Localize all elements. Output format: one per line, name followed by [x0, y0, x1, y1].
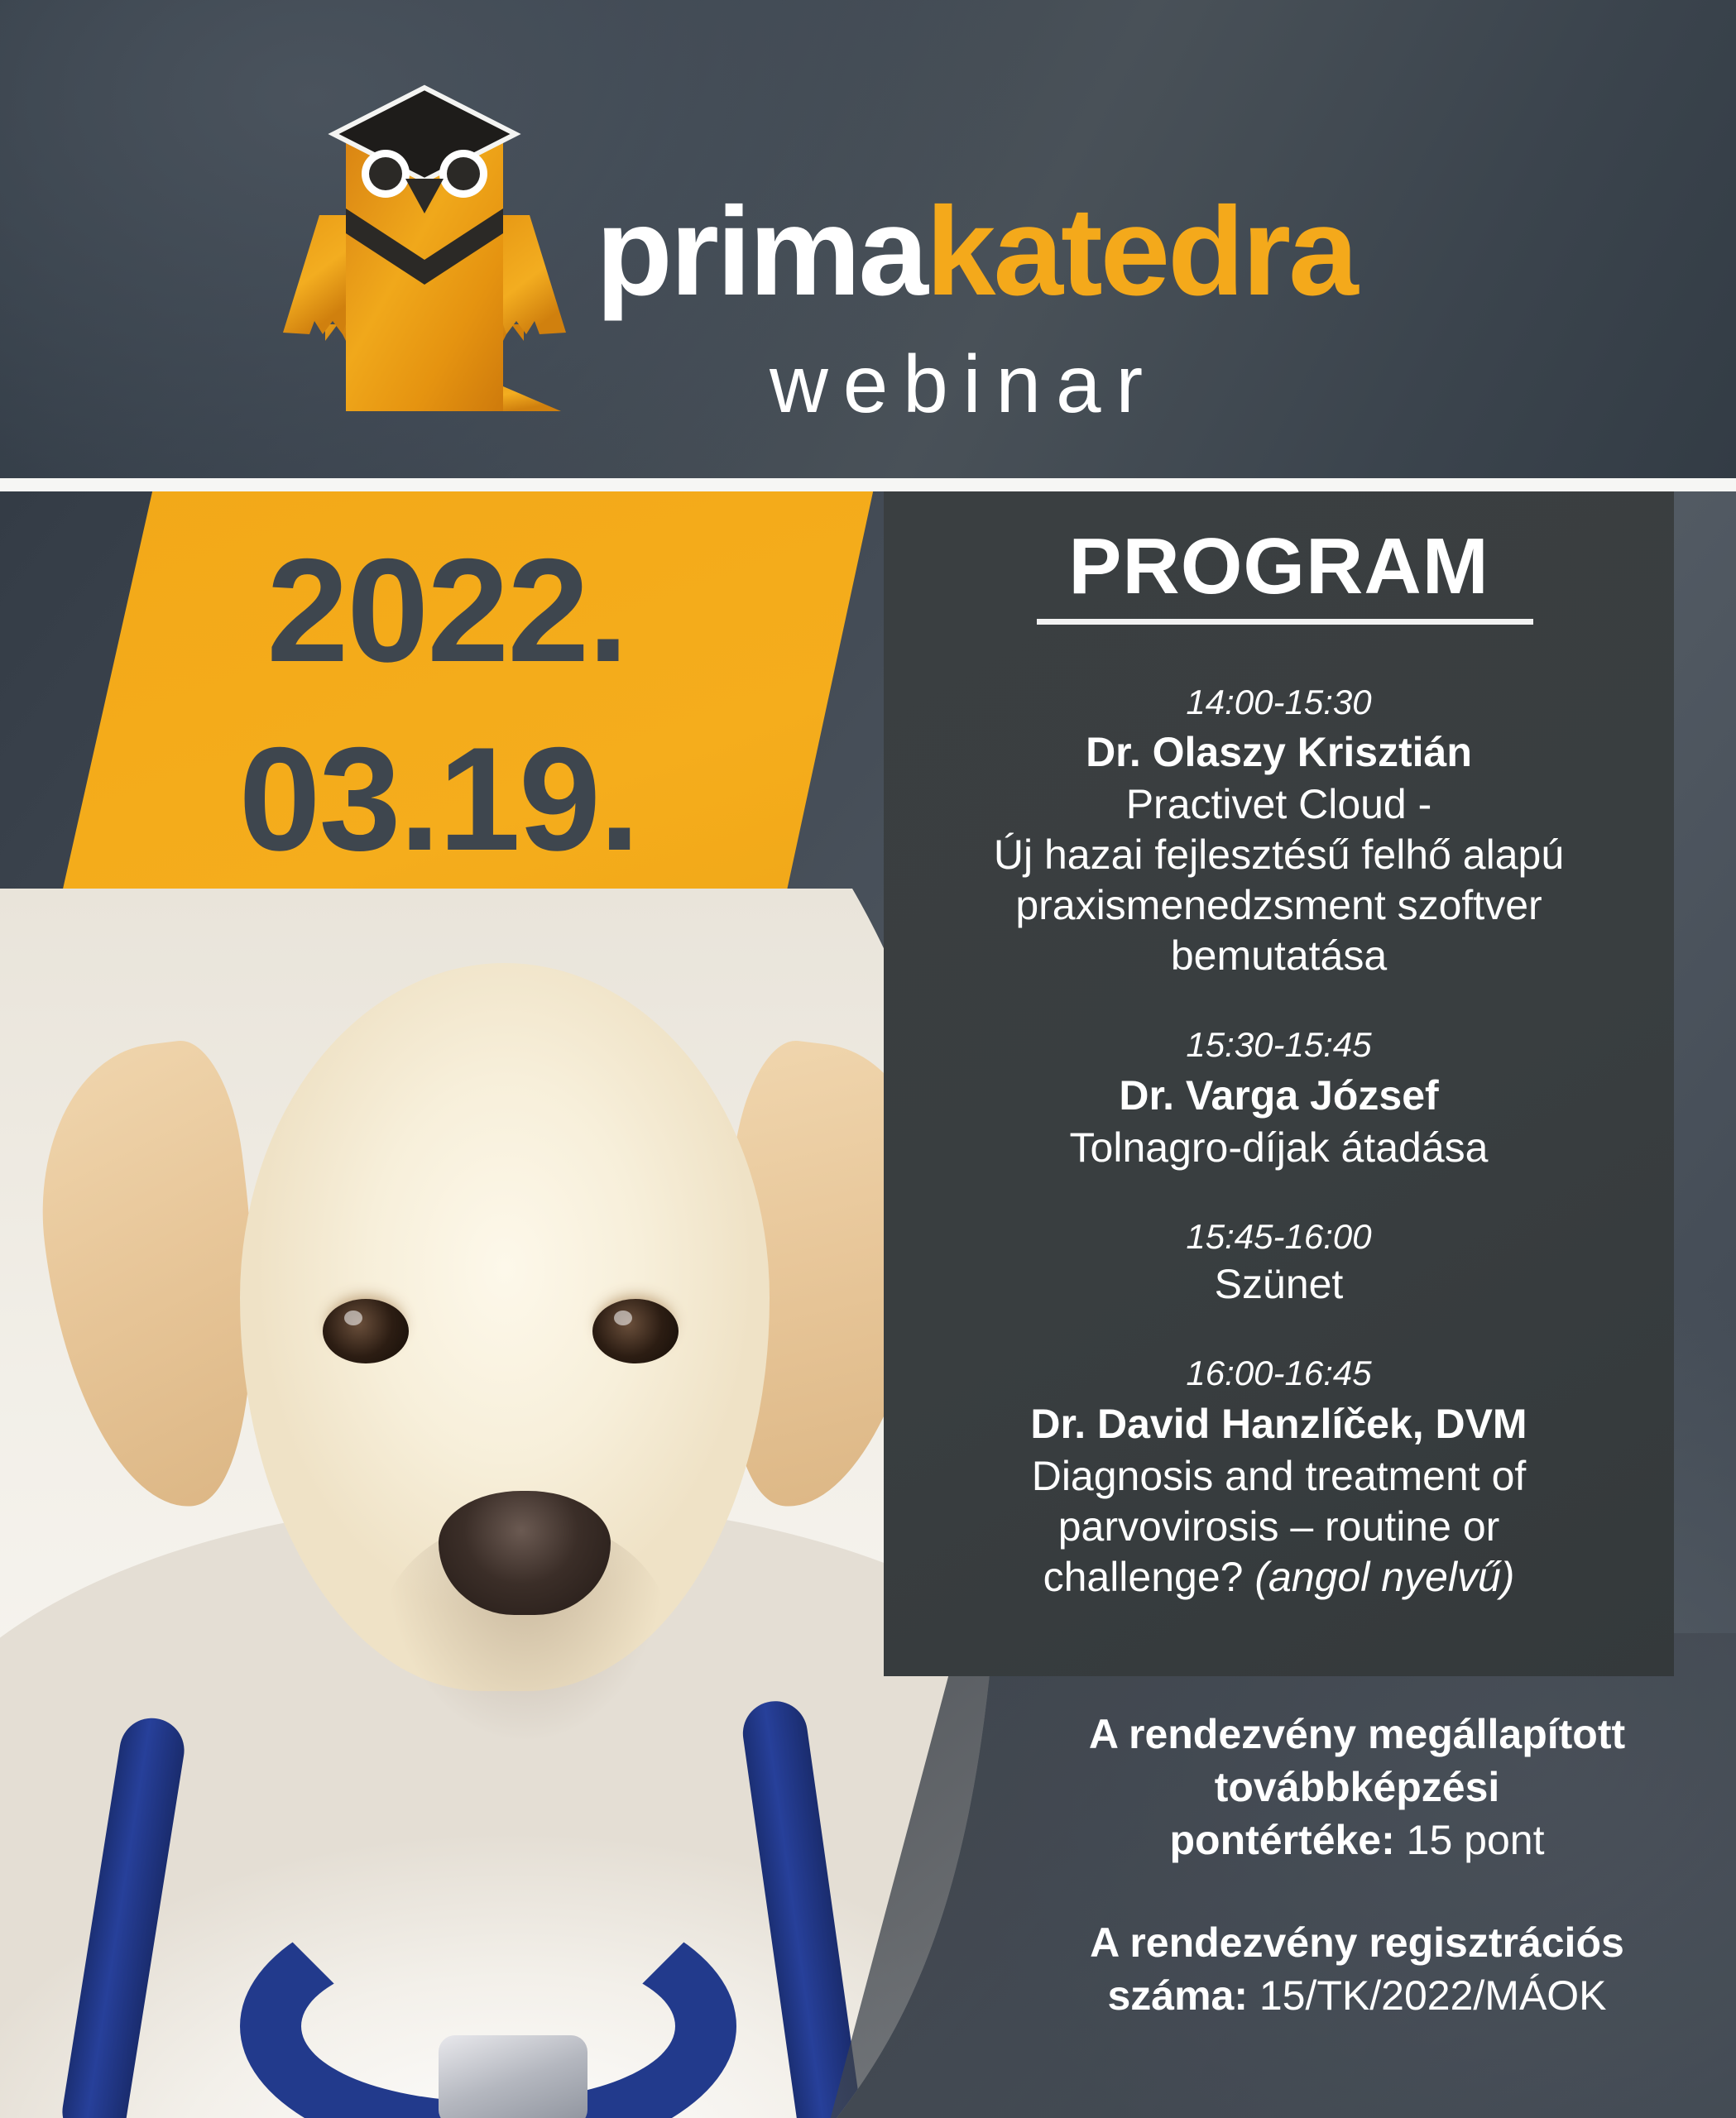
program-item-topic-line: praxismenedzsment szoftver	[910, 880, 1647, 931]
program-item-time: 14:00-15:30	[900, 682, 1657, 723]
program-title-underline	[1037, 619, 1533, 625]
credit-points-line: A rendezvény megállapított	[1026, 1708, 1688, 1761]
puppy-nose	[439, 1491, 611, 1615]
program-item-topic-line: Szünet	[910, 1259, 1647, 1310]
registration-number-line: száma: 15/TK/2022/MÁOK	[1026, 1969, 1688, 2022]
program-item: 14:00-15:30 Dr. Olaszy Krisztián Practiv…	[900, 682, 1657, 981]
program-item-topic-line: parvovirosis – routine or	[910, 1502, 1647, 1552]
program-item-speaker: Dr. David Hanzlíček, DVM	[900, 1398, 1657, 1450]
credit-points-block: A rendezvény megállapított továbbképzési…	[1026, 1708, 1688, 1866]
program-title: PROGRAM	[884, 521, 1674, 612]
registration-label-1: A rendezvény regisztrációs	[1090, 1919, 1624, 1966]
program-item-topic-line: Tolnagro-díjak átadása	[910, 1123, 1647, 1173]
credit-points-label-2: továbbképzési	[1215, 1764, 1500, 1810]
registration-number-line: A rendezvény regisztrációs	[1026, 1916, 1688, 1969]
program-item-topic-line: bemutatása	[910, 931, 1647, 981]
program-item-topic: Practivet Cloud - Új hazai fejlesztésű f…	[900, 779, 1657, 981]
program-item-language-note: (angol nyelvű)	[1254, 1554, 1514, 1600]
program-item-time: 16:00-16:45	[900, 1353, 1657, 1394]
program-item: 16:00-16:45 Dr. David Hanzlíček, DVM Dia…	[900, 1353, 1657, 1602]
header-divider	[0, 478, 1736, 491]
registration-label-2: száma:	[1107, 1972, 1248, 2019]
credit-points-value: 15 pont	[1395, 1817, 1545, 1863]
program-list: 14:00-15:30 Dr. Olaszy Krisztián Practiv…	[900, 682, 1657, 1646]
program-item-speaker: Dr. Olaszy Krisztián	[900, 726, 1657, 778]
stethoscope-chestpiece	[439, 2035, 587, 2118]
program-item-topic: Szünet	[900, 1259, 1657, 1310]
program-item-topic: Diagnosis and treatment of parvovirosis …	[900, 1451, 1657, 1603]
program-item-topic-last: challenge? (angol nyelvű)	[910, 1552, 1647, 1603]
program-item-topic-line: Diagnosis and treatment of	[910, 1451, 1647, 1502]
brand-wordmark: primakatedra	[596, 189, 1523, 314]
program-item-topic-line: Practivet Cloud -	[910, 779, 1647, 830]
program-item-topic-line: Új hazai fejlesztésű felhő alapú	[910, 830, 1647, 880]
program-item: 15:30-15:45 Dr. Varga József Tolnagro-dí…	[900, 1024, 1657, 1172]
credit-points-line: továbbképzési	[1026, 1761, 1688, 1814]
poster-body: 2022. 03.19. PROGRAM 14:00-15:3	[0, 491, 1736, 2118]
webinar-poster: primakatedra webinar 2022. 03.19.	[0, 0, 1736, 2118]
puppy-eye-left	[323, 1299, 409, 1363]
program-item-topic-line: challenge?	[1043, 1554, 1255, 1600]
event-date-day: 03.19.	[149, 705, 728, 894]
program-item-time: 15:45-16:00	[900, 1216, 1657, 1258]
brand-katedra: katedra	[926, 181, 1356, 322]
owl-graduate-icon	[263, 76, 586, 450]
registration-value: 15/TK/2022/MÁOK	[1248, 1972, 1607, 2019]
program-item-topic: Tolnagro-díjak átadása	[900, 1123, 1657, 1173]
credit-points-label-3: pontértéke:	[1170, 1817, 1395, 1863]
event-date-year: 2022.	[165, 516, 728, 705]
program-panel: PROGRAM 14:00-15:30 Dr. Olaszy Krisztián…	[884, 491, 1674, 1676]
registration-number-block: A rendezvény regisztrációs száma: 15/TK/…	[1026, 1916, 1688, 2022]
credit-points-line: pontértéke: 15 pont	[1026, 1814, 1688, 1866]
program-item-time: 15:30-15:45	[900, 1024, 1657, 1066]
brand-subtitle: webinar	[770, 338, 1158, 431]
poster-header: primakatedra webinar	[0, 0, 1736, 478]
program-item-speaker: Dr. Varga József	[900, 1070, 1657, 1121]
event-date: 2022. 03.19.	[149, 516, 728, 894]
credit-points-label-1: A rendezvény megállapított	[1089, 1711, 1625, 1757]
footer-info: A rendezvény megállapított továbbképzési…	[1026, 1708, 1688, 2072]
brand-prima: prima	[596, 181, 926, 322]
puppy-eye-right	[592, 1299, 679, 1363]
program-item: 15:45-16:00 Szünet	[900, 1216, 1657, 1310]
